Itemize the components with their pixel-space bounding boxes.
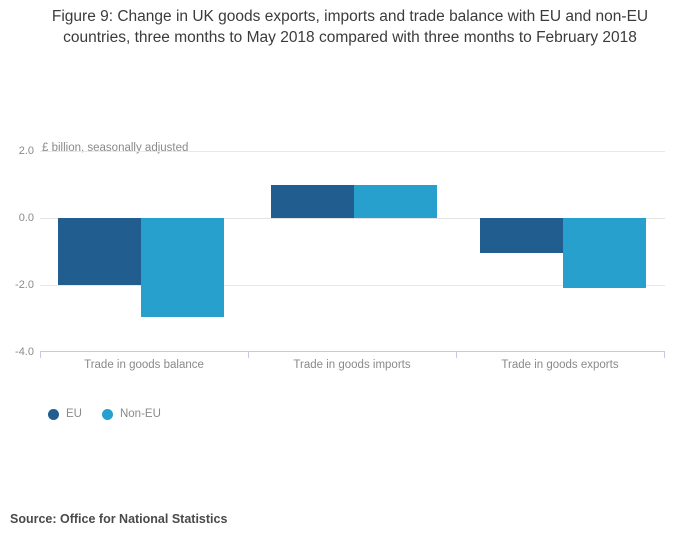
- bar-imports-eu[interactable]: [271, 185, 354, 219]
- legend-item-eu[interactable]: EU: [48, 408, 82, 420]
- legend-circle-icon-eu: [48, 409, 59, 420]
- x-axis-category-label-balance: Trade in goods balance: [40, 359, 248, 371]
- x-axis-tick: [456, 351, 457, 358]
- gridline-2: [40, 151, 665, 152]
- x-axis-tick: [664, 351, 665, 358]
- x-axis-category-label-imports: Trade in goods imports: [248, 359, 456, 371]
- bar-exports-eu[interactable]: [480, 218, 563, 253]
- chart-title: Figure 9: Change in UK goods exports, im…: [22, 6, 678, 48]
- legend-item-non-eu[interactable]: Non-EU: [102, 408, 161, 420]
- chart-legend: EU Non-EU: [48, 408, 161, 420]
- chart-source-note: Source: Office for National Statistics: [10, 512, 227, 526]
- y-axis-tick-labels: 2.0 0.0 -2.0 -4.0: [0, 151, 34, 352]
- x-axis-tick: [248, 351, 249, 358]
- legend-label-non-eu: Non-EU: [120, 408, 161, 420]
- y-axis-tick-label: 0.0: [0, 212, 34, 224]
- y-axis-tick-label: 2.0: [0, 145, 34, 157]
- y-axis-tick-label: -2.0: [0, 279, 34, 291]
- bar-balance-eu[interactable]: [58, 218, 141, 285]
- bar-balance-non-eu[interactable]: [141, 218, 224, 317]
- legend-circle-icon-non-eu: [102, 409, 113, 420]
- chart-plot-region: £ billion, seasonally adjusted 2.0 0.0 -…: [0, 140, 700, 355]
- plot-area: [40, 151, 665, 352]
- legend-label-eu: EU: [66, 408, 82, 420]
- bar-exports-non-eu[interactable]: [563, 218, 646, 288]
- x-axis-line: [40, 351, 665, 352]
- x-axis-category-labels: Trade in goods balance Trade in goods im…: [40, 359, 665, 377]
- y-axis-tick-label: -4.0: [0, 346, 34, 358]
- bar-imports-non-eu[interactable]: [354, 185, 437, 219]
- x-axis-tick: [40, 351, 41, 358]
- x-axis-category-label-exports: Trade in goods exports: [456, 359, 664, 371]
